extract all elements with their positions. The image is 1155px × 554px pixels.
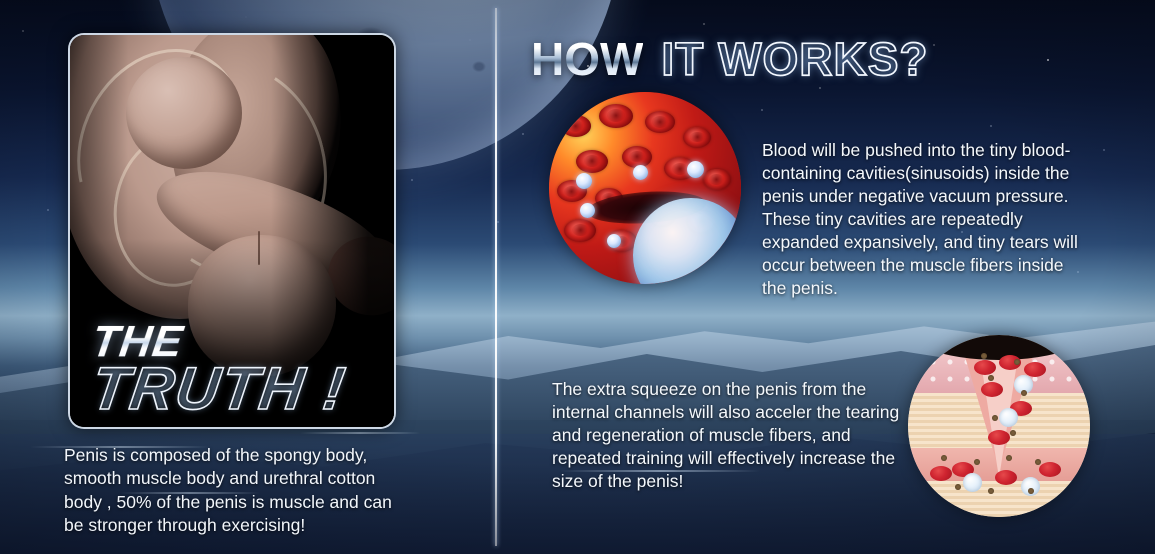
truth-wordmark: THE TRUTH ! [92, 321, 346, 419]
red-blood-cell [995, 470, 1017, 485]
infographic-banner: THE TRUTH ! Penis is composed of the spo… [0, 0, 1155, 554]
blood-cell-cluster [549, 92, 741, 284]
red-blood-cell [576, 150, 608, 173]
white-blood-cell [607, 234, 621, 248]
red-blood-cell [645, 111, 675, 133]
tissue-granule [941, 455, 947, 461]
red-blood-cell [599, 104, 633, 128]
white-blood-cell [633, 165, 648, 180]
tissue-granule [988, 488, 994, 494]
paragraph-blood-flow: Blood will be pushed into the tiny blood… [762, 139, 1092, 299]
left-caption-text: Penis is composed of the spongy body, sm… [64, 444, 414, 537]
tissue-granule [981, 353, 987, 359]
red-blood-cell [564, 219, 596, 242]
tissue-granule [1028, 488, 1034, 494]
tissue-granule [974, 459, 980, 465]
white-blood-cell [999, 408, 1018, 427]
tissue-muscle-band [908, 481, 1090, 517]
tissue-granule [1010, 430, 1016, 436]
red-blood-cell [622, 146, 652, 168]
vertical-divider [495, 8, 497, 546]
red-blood-cell [988, 430, 1010, 445]
lake-streak [300, 432, 420, 434]
page-title: HOW IT WORKS? [531, 32, 929, 86]
white-blood-cell [576, 173, 592, 189]
tissue-granule [1021, 390, 1027, 396]
red-blood-cell [703, 169, 731, 190]
blood-cells-sinusoid-circle [549, 92, 741, 284]
paragraph-extra-squeeze: The extra squeeze on the penis from the … [552, 378, 902, 493]
tissue-granule [992, 415, 998, 421]
white-blood-cell [963, 473, 982, 492]
page-title-it-works: IT WORKS? [661, 32, 928, 86]
red-blood-cell [561, 115, 591, 137]
white-blood-cell [687, 161, 704, 178]
truth-wordmark-line2: TRUTH ! [88, 359, 350, 419]
tissue-background [908, 335, 1090, 517]
white-blood-cell [580, 203, 595, 218]
red-blood-cell [683, 127, 711, 148]
page-title-how: HOW [531, 32, 643, 86]
truth-card: THE TRUTH ! [68, 33, 396, 429]
muscle-tissue-capillary-circle [908, 335, 1090, 517]
tissue-granule [1014, 359, 1020, 365]
red-blood-cell [930, 466, 952, 481]
